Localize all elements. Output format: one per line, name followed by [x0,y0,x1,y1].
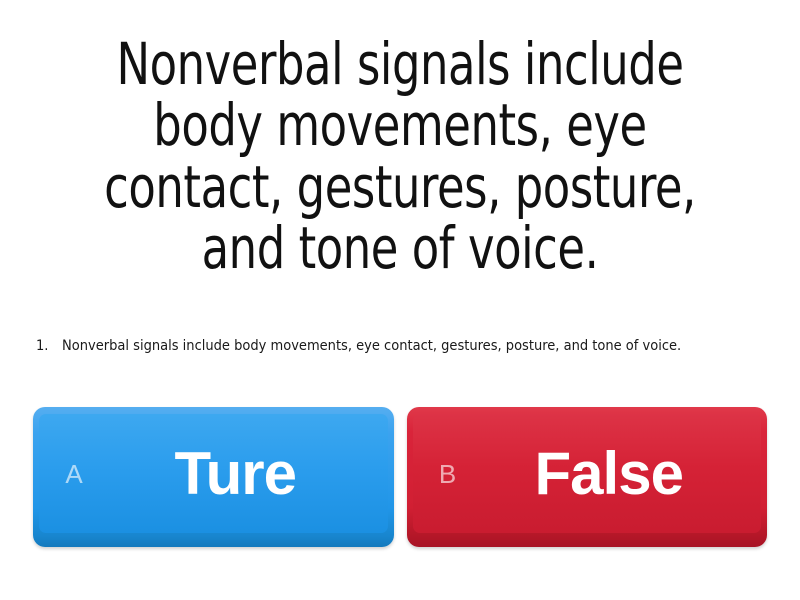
list-item-number: 1. [36,337,62,356]
question-title: Nonverbal signals include body movements… [75,34,725,280]
question-area: Nonverbal signals include body movements… [0,34,800,280]
numbered-list: 1. Nonverbal signals include body moveme… [0,337,800,356]
answer-option-a-label: Ture [109,444,388,504]
quiz-slide: Nonverbal signals include body movements… [0,0,800,600]
answer-option-a-face: A Ture [39,414,388,533]
answer-option-b-letter: B [413,461,483,487]
list-item: 1. Nonverbal signals include body moveme… [36,337,780,356]
list-item-text: Nonverbal signals include body movements… [62,337,681,356]
answer-option-a[interactable]: A Ture [33,407,394,547]
answer-option-b-face: B False [413,414,762,533]
answer-options: A Ture B False [33,407,767,547]
answer-option-b-label: False [483,444,762,504]
answer-option-a-letter: A [39,461,109,487]
answer-option-b[interactable]: B False [407,407,768,547]
